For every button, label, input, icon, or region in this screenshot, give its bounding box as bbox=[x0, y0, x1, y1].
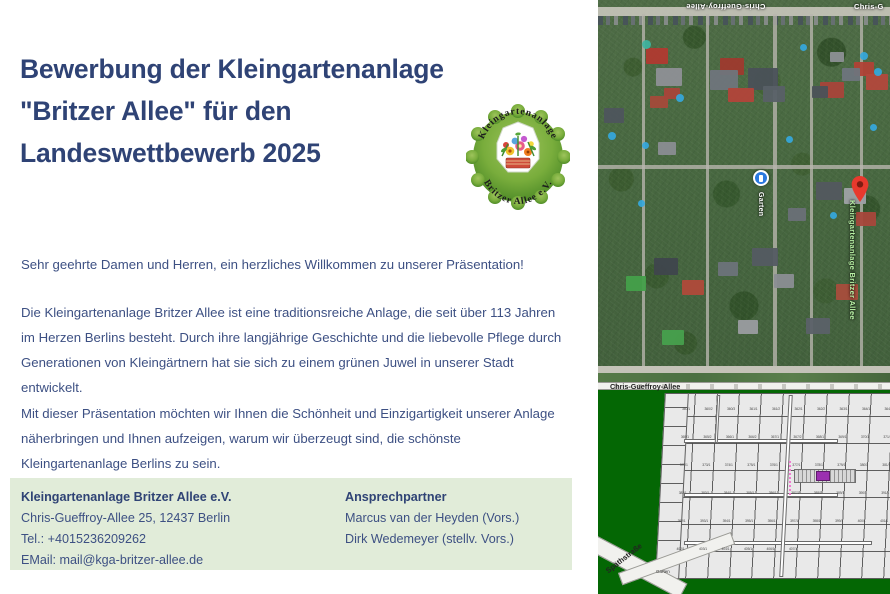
plot-number: 373/1 bbox=[702, 463, 710, 467]
plot-number: 366/1 bbox=[726, 435, 734, 439]
plot-number: 374/1 bbox=[725, 463, 733, 467]
plot-number: 404/1 bbox=[722, 547, 730, 551]
plot-number: 369/1 bbox=[838, 435, 846, 439]
plot-number: 377/1 bbox=[792, 463, 800, 467]
plot-number: 370/1 bbox=[861, 435, 869, 439]
street-view-pegman-icon[interactable] bbox=[753, 170, 769, 186]
plot-number: 384/1 bbox=[724, 491, 732, 495]
plot-number: 367/2 bbox=[793, 435, 801, 439]
garden-roof bbox=[682, 280, 704, 295]
plot-number: 386/1 bbox=[769, 491, 777, 495]
satellite-poi-label: Garten bbox=[757, 192, 764, 216]
plot-number: 391/1 bbox=[881, 491, 889, 495]
garden-pool bbox=[676, 94, 684, 102]
plot-number: 393/1 bbox=[700, 519, 708, 523]
plot-number: 367/1 bbox=[771, 435, 779, 439]
plot-number: 360/1 bbox=[682, 407, 690, 411]
plot-number: 392/1 bbox=[678, 519, 686, 523]
plot-number: 375/1 bbox=[747, 463, 755, 467]
plot-number: 360/3 bbox=[727, 407, 735, 411]
plot-number: 403/1 bbox=[699, 547, 707, 551]
garden-roof bbox=[658, 142, 676, 155]
internal-path bbox=[684, 439, 838, 443]
association-phone: Tel.: +4015236209262 bbox=[21, 529, 341, 550]
plot-number: 362/2 bbox=[817, 407, 825, 411]
plot-number: 396/1 bbox=[768, 519, 776, 523]
plot-number: 390/1 bbox=[859, 491, 867, 495]
plot-number: 362/1 bbox=[795, 407, 803, 411]
plot-number: 400/1 bbox=[858, 519, 866, 523]
purpose-paragraph: Mit dieser Präsentation möchten wir Ihne… bbox=[21, 401, 561, 476]
garden-pool bbox=[608, 132, 616, 140]
plot-number: 389/1 bbox=[836, 491, 844, 495]
contact-person-2: Dirk Wedemeyer (stellv. Vors.) bbox=[345, 529, 570, 550]
path-vertical-a bbox=[642, 14, 645, 366]
garden-roof bbox=[866, 74, 888, 90]
plot-number: 383/1 bbox=[701, 491, 709, 495]
path-vertical-d bbox=[810, 14, 813, 366]
plot-number: 368/1 bbox=[816, 435, 824, 439]
contact-column-persons: Ansprechpartner Marcus van der Heyden (V… bbox=[345, 487, 570, 550]
map-pin-icon[interactable] bbox=[851, 176, 869, 202]
plot-number: 407/1 bbox=[789, 547, 797, 551]
plot-number: 372/1 bbox=[680, 463, 688, 467]
plot-number: 399/1 bbox=[835, 519, 843, 523]
path-vertical-c bbox=[773, 14, 777, 366]
plot-number: 405/1 bbox=[744, 547, 752, 551]
contact-column-association: Kleingartenanlage Britzer Allee e.V. Chr… bbox=[21, 487, 341, 571]
garden-pool bbox=[860, 52, 868, 60]
garden-roof bbox=[604, 108, 624, 123]
garden-roof bbox=[806, 318, 830, 334]
garden-pool bbox=[638, 200, 645, 207]
site-plan-path-label: Garten bbox=[656, 569, 670, 574]
plot-number: 361/2 bbox=[772, 407, 780, 411]
plot-number: 371/1 bbox=[883, 435, 890, 439]
intro-paragraph: Die Kleingartenanlage Britzer Allee ist … bbox=[21, 300, 566, 400]
contact-persons-heading: Ansprechpartner bbox=[345, 487, 570, 508]
garden-roof bbox=[656, 68, 682, 86]
plot-number: 401/1 bbox=[880, 519, 888, 523]
garden-roof bbox=[856, 212, 876, 226]
garden-pool bbox=[870, 124, 877, 131]
association-address: Chris-Gueffroy-Allee 25, 12437 Berlin bbox=[21, 508, 341, 529]
garden-pool bbox=[830, 212, 837, 219]
plot-number: 402/1 bbox=[677, 547, 685, 551]
garden-roof bbox=[738, 320, 758, 334]
plot-number: 381/1 bbox=[882, 463, 890, 467]
plot-number: 388/1 bbox=[814, 491, 822, 495]
site-plan-street-label-top: Chris-Gueffroy-Allee bbox=[610, 382, 680, 391]
plot-number: 364/1 bbox=[862, 407, 870, 411]
plot-number: 395/1 bbox=[745, 519, 753, 523]
garden-roof bbox=[788, 208, 806, 221]
plot-number: 363/1 bbox=[840, 407, 848, 411]
plot-number: 387/1 bbox=[791, 491, 799, 495]
garden-roof bbox=[646, 48, 668, 64]
plot-number: 394/1 bbox=[723, 519, 731, 523]
garden-roof bbox=[763, 86, 785, 102]
path-vertical-b bbox=[706, 14, 709, 366]
plot-number: 382/1 bbox=[679, 491, 687, 495]
association-name: Kleingartenanlage Britzer Allee e.V. bbox=[21, 487, 341, 508]
plot-number: 366/2 bbox=[748, 435, 756, 439]
site-plan-top-greenery bbox=[598, 373, 890, 382]
garden-roof bbox=[728, 88, 754, 102]
garden-roof bbox=[842, 68, 860, 81]
road-horizontal-lower bbox=[598, 366, 890, 373]
plot-number: 376/1 bbox=[770, 463, 778, 467]
site-plan-map[interactable]: Chris-Gueffroy-Allee Späthstraße G bbox=[598, 373, 890, 594]
plot-number: 365/2 bbox=[703, 435, 711, 439]
plot-number: 397/1 bbox=[790, 519, 798, 523]
garden-roof bbox=[816, 182, 842, 200]
contact-box: Kleingartenanlage Britzer Allee e.V. Chr… bbox=[10, 478, 572, 570]
greeting-paragraph: Sehr geehrte Damen und Herren, ein herzl… bbox=[21, 255, 566, 275]
plot-number: 385/1 bbox=[746, 491, 754, 495]
contact-person-1: Marcus van der Heyden (Vors.) bbox=[345, 508, 570, 529]
garden-roof bbox=[830, 52, 844, 62]
plot-number: 398/1 bbox=[813, 519, 821, 523]
garden-roof bbox=[626, 276, 646, 291]
garden-roof bbox=[710, 70, 738, 90]
garden-roof bbox=[752, 248, 778, 266]
title-line-3: Landeswettbewerb 2025 bbox=[20, 132, 490, 174]
satellite-street-label-top-right: Chris-G bbox=[854, 2, 884, 11]
garden-roof bbox=[718, 262, 738, 276]
presentation-slide: Bewerbung der Kleingartenanlage "Britzer… bbox=[0, 0, 890, 594]
garden-roof bbox=[654, 258, 678, 275]
plot-number: 364/2 bbox=[885, 407, 890, 411]
association-logo: Kleingartenanlage Britzer Allee e.V. bbox=[466, 96, 570, 214]
plot-number: 379/1 bbox=[837, 463, 845, 467]
garden-pool bbox=[874, 68, 882, 76]
garden-roof bbox=[812, 86, 828, 98]
plot-number: 406/1 bbox=[767, 547, 775, 551]
clubhouse-building[interactable] bbox=[816, 471, 830, 481]
title-line-1: Bewerbung der Kleingartenanlage bbox=[20, 48, 490, 90]
title-line-2: "Britzer Allee" für den bbox=[20, 90, 490, 132]
map-pin-label: Kleingartenanlage Britzer Allee bbox=[848, 200, 857, 320]
plot-number: 380/1 bbox=[860, 463, 868, 467]
satellite-street-label-top: Chris-Gueffroy-Allee bbox=[686, 2, 765, 11]
map-panel[interactable]: Chris-Gueffroy-Allee Chris-G Garten Klei… bbox=[598, 0, 890, 594]
garden-pool bbox=[800, 44, 807, 51]
garden-pool bbox=[642, 40, 651, 49]
page-title: Bewerbung der Kleingartenanlage "Britzer… bbox=[20, 48, 490, 174]
logo-seal-icon: Kleingartenanlage Britzer Allee e.V. bbox=[466, 96, 570, 214]
plot-number: 361/1 bbox=[750, 407, 758, 411]
satellite-map-image[interactable]: Chris-Gueffroy-Allee Chris-G Garten Klei… bbox=[598, 0, 890, 373]
content-column: Bewerbung der Kleingartenanlage "Britzer… bbox=[0, 0, 598, 594]
garden-roof bbox=[662, 330, 684, 345]
plot-number: 365/1 bbox=[681, 435, 689, 439]
plot-number: 360/2 bbox=[705, 407, 713, 411]
garden-roof bbox=[774, 274, 794, 288]
garden-pool bbox=[786, 136, 793, 143]
association-email[interactable]: EMail: mail@kga-britzer-allee.de bbox=[21, 550, 341, 571]
garden-pool bbox=[642, 142, 649, 149]
plot-number: 378/1 bbox=[815, 463, 823, 467]
